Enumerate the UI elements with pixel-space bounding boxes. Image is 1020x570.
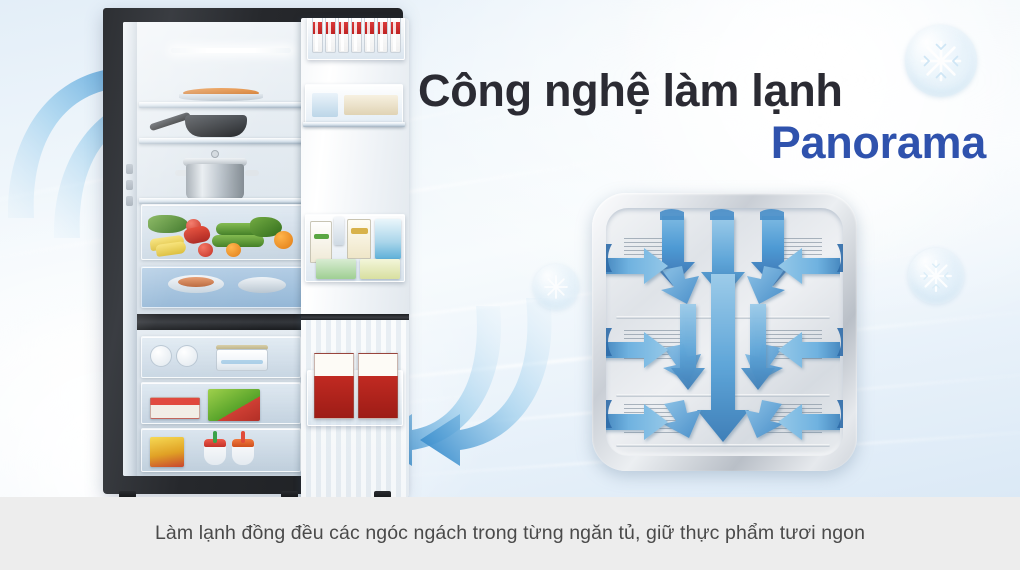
milk-carton: [310, 221, 332, 263]
panorama-cooling-banner: Công nghệ làm lạnh Panorama: [0, 0, 1020, 570]
caption-text: Làm lạnh đồng đều các ngóc ngách trong t…: [155, 522, 865, 545]
snowflake-icon: [918, 38, 964, 84]
small-pack: [334, 217, 344, 245]
airflow-ribbon-right: [825, 208, 843, 456]
headline-line-2: Panorama: [418, 116, 998, 169]
bottle: [377, 18, 388, 53]
panorama-airflow-diagram: [592, 193, 857, 471]
snowflake-icon: [918, 258, 954, 294]
bottle: [364, 18, 375, 53]
door-bin-bottles[interactable]: [307, 18, 405, 60]
snowflake-bubble-center-left: [533, 264, 579, 310]
airflow-arrow-group: [606, 208, 840, 456]
door-bin-middle[interactable]: [305, 214, 405, 282]
door-shelf: [303, 122, 405, 127]
food-box: [347, 219, 371, 259]
red-gift-box: [314, 353, 354, 419]
caption-bar: Làm lạnh đồng đều các ngóc ngách trong t…: [0, 497, 1020, 570]
refrigerator-door[interactable]: [301, 18, 409, 497]
airflow-ribbon-left: [606, 208, 624, 456]
refrigerator: [96, 0, 416, 497]
snack-pack: [360, 259, 400, 279]
door-bin-dairy[interactable]: [305, 84, 403, 124]
refrigerator-body: [103, 8, 403, 494]
box-label: [351, 228, 368, 234]
egg-tray: [344, 95, 398, 115]
bottle: [338, 18, 349, 53]
green-pack: [316, 259, 356, 279]
snowflake-bubble-right: [908, 248, 964, 304]
bottle: [325, 18, 336, 53]
bottle: [312, 18, 323, 53]
frozen-pack: [375, 219, 401, 259]
bottle: [351, 18, 362, 53]
red-gift-box: [358, 353, 398, 419]
bottle: [390, 18, 401, 53]
snowflake-icon: [542, 273, 570, 301]
dairy-pack: [312, 93, 338, 117]
snowflake-bubble-top-right: [905, 25, 977, 97]
hero-background: Công nghệ làm lạnh Panorama: [0, 0, 1020, 497]
flow-arrow-right-lower: [418, 292, 568, 472]
freezer-door-bin[interactable]: [307, 370, 403, 426]
airflow-diagram-inner: [606, 208, 843, 456]
carton-label: [314, 234, 329, 239]
